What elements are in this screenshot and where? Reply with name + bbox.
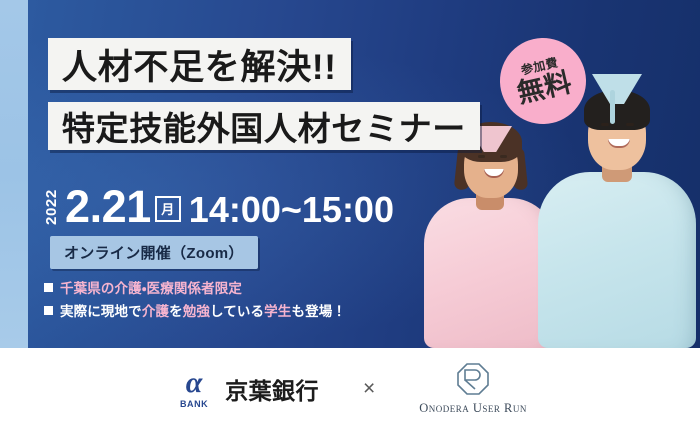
list-item: 千葉県の介護・医療関係者限定 bbox=[44, 277, 346, 297]
keiyo-bank-wordmark: BANK bbox=[173, 399, 215, 409]
onodera-octagon-icon bbox=[456, 362, 490, 396]
left-accent-strip bbox=[0, 0, 28, 348]
event-day-of-week: 月 bbox=[155, 196, 181, 222]
bullet-text: 千葉県の介護・医療関係者限定 bbox=[60, 277, 242, 297]
keiyo-bank-logo: α BANK 京葉銀行 bbox=[173, 369, 319, 409]
person-woman-pink-polo bbox=[424, 116, 556, 348]
venue-online-zoom-pill: オンライン開催（Zoom） bbox=[50, 236, 258, 269]
event-datetime: 2022 2.21 月 14:00~15:00 bbox=[44, 176, 394, 228]
woman-polo-shirt bbox=[424, 198, 556, 348]
event-year: 2022 bbox=[44, 177, 59, 225]
event-time: 14:00~15:00 bbox=[189, 192, 394, 228]
partnership-cross-icon: × bbox=[363, 377, 375, 401]
keiyo-alpha-glyph: α bbox=[173, 369, 215, 396]
logo-footer: α BANK 京葉銀行 × Onodera User Run bbox=[0, 348, 700, 429]
man-polo-shirt bbox=[538, 172, 696, 348]
man-placket bbox=[610, 90, 615, 124]
headline-line-1: 人材不足を解決!! bbox=[48, 38, 351, 90]
bullet-text: 実際に現地で介護を勉強している学生も登場！ bbox=[60, 300, 346, 320]
woman-eye-left bbox=[478, 155, 485, 158]
man-eye-left bbox=[601, 123, 609, 126]
bullet-square-icon bbox=[44, 283, 53, 292]
man-eye-right bbox=[626, 123, 634, 126]
seminar-banner: 人材不足を解決!! 特定技能外国人材セミナー 参加費 無料 2022 2.21 … bbox=[0, 0, 700, 348]
list-item: 実際に現地で介護を勉強している学生も登場！ bbox=[44, 300, 346, 320]
event-date: 2.21 bbox=[65, 185, 151, 228]
headline-line-2: 特定技能外国人材セミナー bbox=[48, 102, 480, 150]
keiyo-bank-name: 京葉銀行 bbox=[225, 372, 319, 406]
onodera-user-run-logo: Onodera User Run bbox=[419, 362, 527, 416]
bullet-list: 千葉県の介護・医療関係者限定 実際に現地で介護を勉強している学生も登場！ bbox=[44, 277, 346, 323]
bullet-square-icon bbox=[44, 306, 53, 315]
woman-eye-right bbox=[500, 155, 507, 158]
onodera-user-run-name: Onodera User Run bbox=[419, 401, 527, 416]
keiyo-bank-mark-icon: α BANK bbox=[173, 369, 215, 409]
banner-canvas: 人材不足を解決!! 特定技能外国人材セミナー 参加費 無料 2022 2.21 … bbox=[0, 0, 700, 429]
